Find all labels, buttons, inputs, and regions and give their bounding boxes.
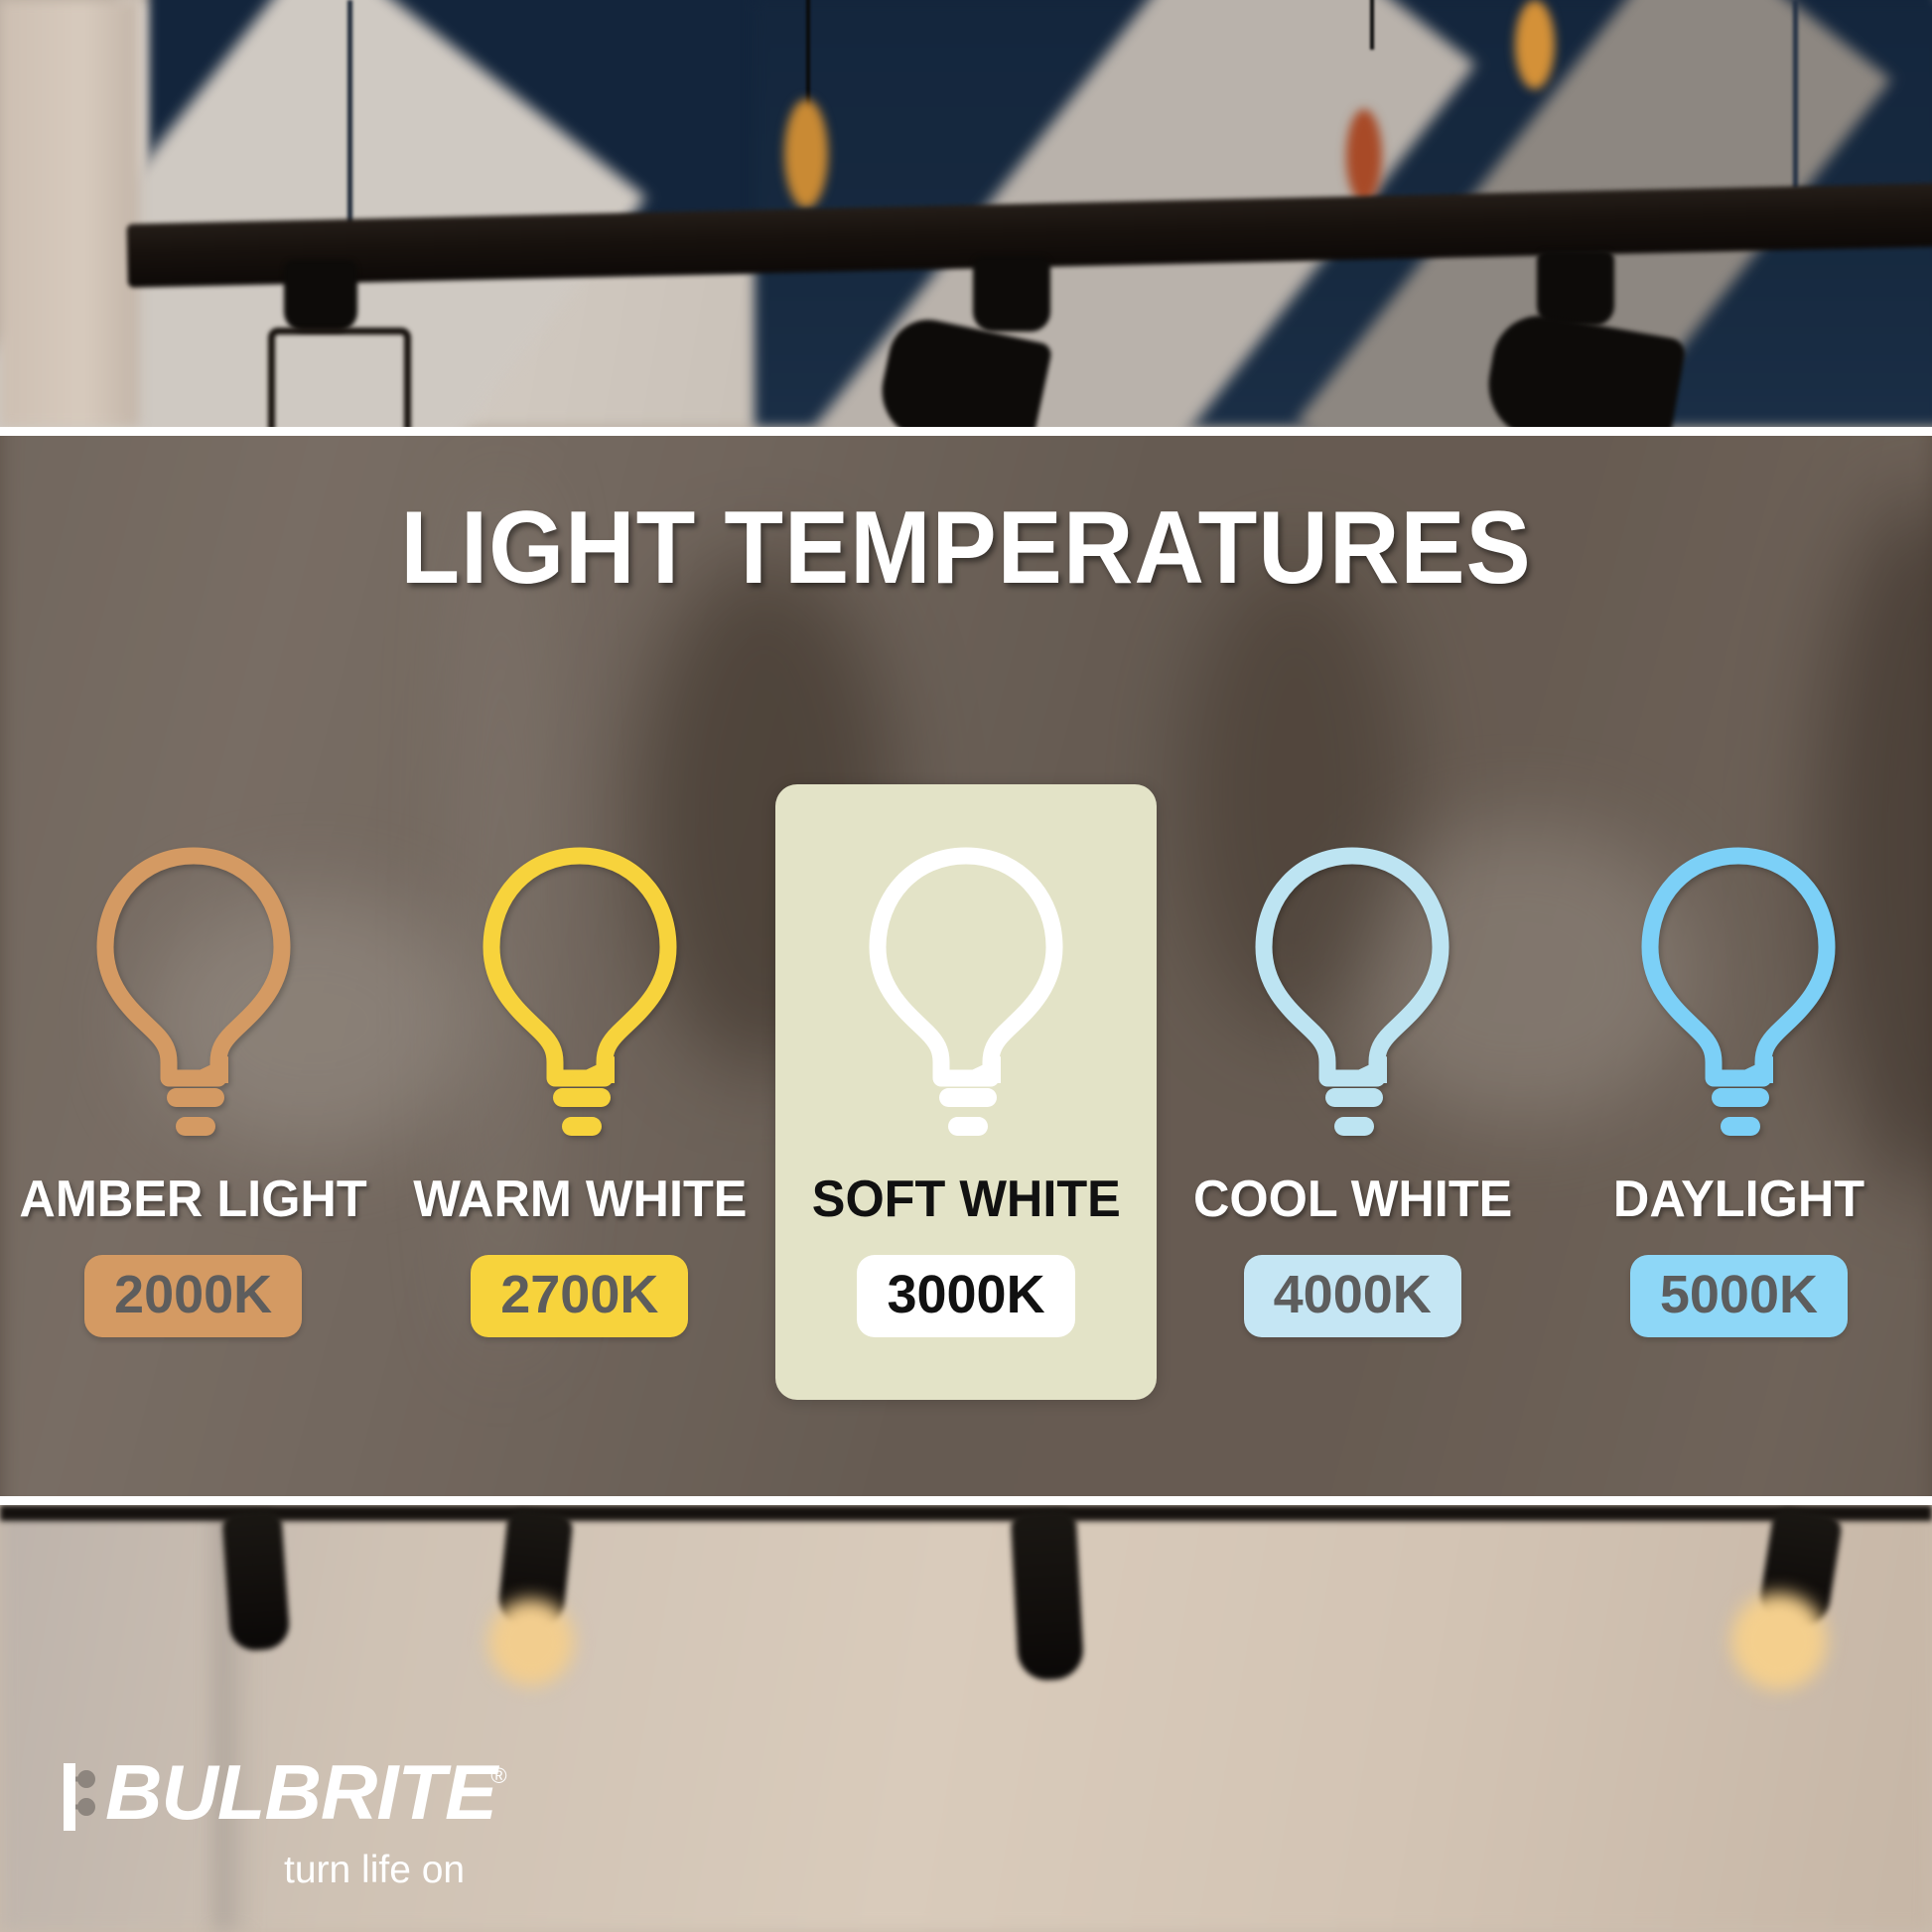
temperature-card-warm-white[interactable]: WARM WHITE 2700K [386, 794, 772, 1410]
lightbulb-icon [466, 842, 694, 1140]
kelvin-badge: 2700K [471, 1255, 688, 1337]
photo-pendant-cord [1370, 0, 1374, 50]
temperature-card-cool-white[interactable]: COOL WHITE 4000K [1160, 794, 1546, 1410]
photo-hanger-wire [1793, 0, 1798, 189]
kelvin-badge: 2000K [84, 1255, 302, 1337]
photo-pendant-bulb [1346, 109, 1382, 204]
logo-wordmark-row: BULBRITE ® [54, 1757, 610, 1835]
page-title: LIGHT TEMPERATURES [58, 496, 1873, 600]
temperature-label: WARM WHITE [413, 1170, 747, 1229]
brand-logo: BULBRITE ® turn life on [54, 1757, 610, 1892]
lightbulb-icon [1624, 842, 1853, 1140]
temperature-card-amber-light[interactable]: AMBER LIGHT 2000K [0, 794, 386, 1410]
kelvin-badge: 5000K [1630, 1255, 1848, 1337]
photo-wall-left [0, 0, 139, 427]
brand-tagline: turn life on [284, 1849, 610, 1892]
lightbulb-icon [79, 842, 308, 1140]
temperature-label: SOFT WHITE [811, 1170, 1120, 1229]
photo-track-head [1011, 1509, 1085, 1681]
photo-hanger-wire [347, 0, 352, 248]
photo-light-glow [488, 1598, 574, 1686]
bulb-filament-mark-icon [54, 1757, 105, 1835]
temperature-card-daylight[interactable]: DAYLIGHT 5000K [1546, 794, 1932, 1410]
brand-name: BULBRITE [105, 1757, 496, 1829]
photo-track-head [1537, 250, 1614, 326]
photo-pendant-bulb [784, 99, 828, 208]
photo-track-head [973, 256, 1050, 332]
photo-light-glow [1731, 1592, 1827, 1690]
photo-pendant-bulb [1515, 0, 1555, 89]
top-photo-band [0, 0, 1932, 427]
photo-bulb-cage [268, 328, 411, 427]
photo-track-head [221, 1509, 291, 1652]
photo-track-head [284, 260, 357, 332]
temperature-label: COOL WHITE [1193, 1170, 1512, 1229]
temperature-list: AMBER LIGHT 2000K WARM WHITE 27 [0, 794, 1932, 1410]
lightbulb-icon [852, 842, 1080, 1140]
photo-track-rail [0, 1505, 1932, 1521]
kelvin-badge: 3000K [857, 1255, 1074, 1337]
kelvin-badge: 4000K [1244, 1255, 1461, 1337]
divider-top [0, 427, 1932, 436]
temperature-label: DAYLIGHT [1613, 1170, 1864, 1229]
poster: LIGHT TEMPERATURES AMBER LIGHT 2000 [0, 0, 1932, 1932]
lightbulb-icon [1238, 842, 1466, 1140]
photo-pendant-cord [806, 0, 810, 109]
divider-bottom [0, 1496, 1932, 1505]
temperature-label: AMBER LIGHT [19, 1170, 366, 1229]
temperature-card-soft-white[interactable]: SOFT WHITE 3000K [772, 794, 1159, 1410]
